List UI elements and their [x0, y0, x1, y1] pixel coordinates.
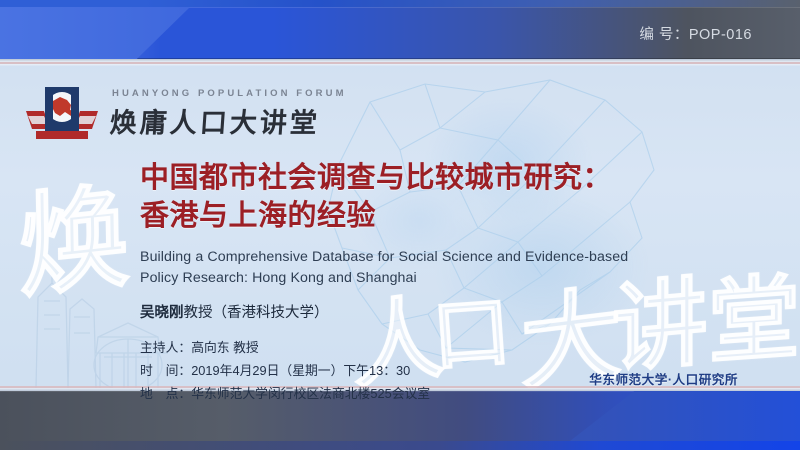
page-title: 中国都市社会调查与比较城市研究： 香港与上海的经验	[140, 158, 760, 235]
forum-logo: HUANYONG POPULATION FORUM 焕庸人口大讲堂	[26, 85, 347, 143]
organization-label: 华东师范大学·人口研究所	[589, 369, 738, 388]
serial-number-label: 编 号：POP-016	[639, 23, 752, 44]
detail-host: 主持人：高向东 教授	[140, 337, 760, 360]
title-line-1: 中国都市社会调查与比较城市研究：	[140, 158, 760, 196]
speaker-name: 吴晓刚	[140, 305, 184, 321]
huanyong-forum-emblem-icon	[26, 85, 98, 143]
title-line-2: 香港与上海的经验	[140, 196, 760, 234]
lecture-poster-slide: 焕 人 口 大 讲 堂 编 号：POP-016	[0, 0, 800, 450]
logo-english-name: HUANYONG POPULATION FORUM	[110, 88, 347, 99]
calligraphy-char-huan: 焕	[17, 146, 131, 320]
header-band: 编 号：POP-016	[0, 7, 800, 59]
top-frame-edge	[0, 0, 800, 7]
logo-text-block: HUANYONG POPULATION FORUM 焕庸人口大讲堂	[110, 88, 347, 140]
logo-chinese-name: 焕庸人口大讲堂	[109, 101, 348, 140]
bottom-frame-edge	[0, 441, 800, 450]
header-rule-fade	[0, 64, 800, 66]
speaker-line: 吴晓刚教授（香港科技大学）	[140, 301, 760, 322]
subtitle-line-1: Building a Comprehensive Database for So…	[140, 247, 760, 268]
page-subtitle: Building a Comprehensive Database for So…	[140, 247, 760, 290]
speaker-affiliation: 教授（香港科技大学）	[184, 305, 329, 321]
subtitle-line-2: Policy Research: Hong Kong and Shanghai	[140, 268, 760, 289]
